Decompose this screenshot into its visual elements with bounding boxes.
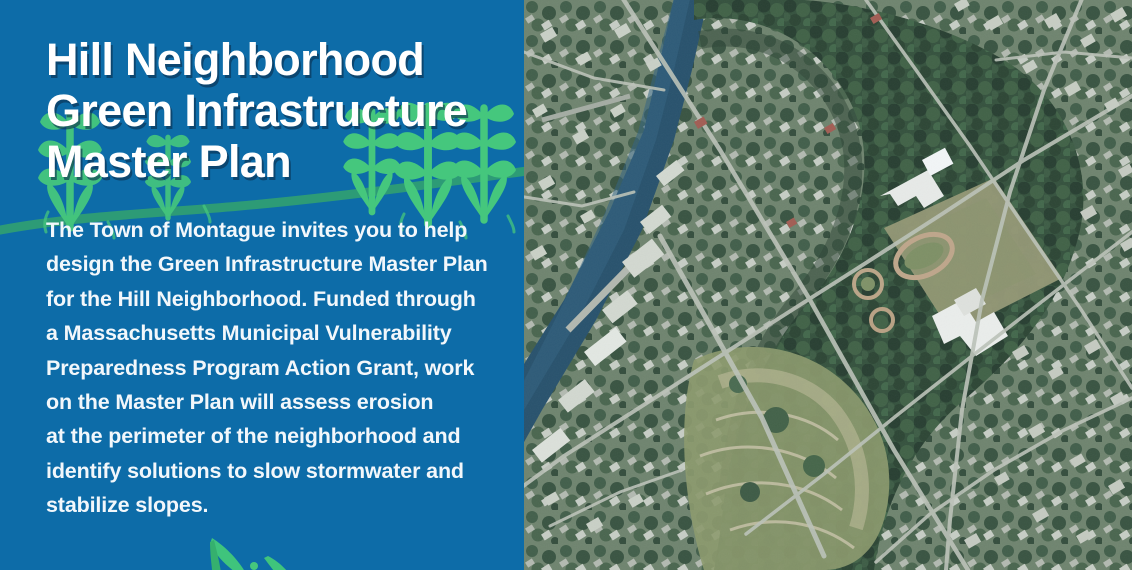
description-line-9: stabilize slopes. — [46, 488, 498, 522]
leaf-sprout-icon-1 — [210, 538, 250, 570]
description-line-4: a Massachusetts Municipal Vulnerability — [46, 316, 498, 350]
description-line-2: design the Green Infrastructure Master P… — [46, 247, 498, 281]
description-line-1: The Town of Montague invites you to help — [46, 213, 498, 247]
page-title: Hill Neighborhood Green Infrastructure M… — [46, 34, 498, 187]
aerial-map-photo — [524, 0, 1132, 570]
leaf-sprout-icon-3 — [264, 556, 298, 570]
page-title-line-2: Green Infrastructure — [46, 85, 498, 136]
description-line-6: on the Master Plan will assess erosion — [46, 385, 498, 419]
info-panel: Hill Neighborhood Green Infrastructure M… — [0, 0, 524, 570]
description-line-7: at the perimeter of the neighborhood and — [46, 419, 498, 453]
leaf-sprout-icon-2 — [210, 540, 222, 570]
panel-content: Hill Neighborhood Green Infrastructure M… — [0, 0, 524, 523]
page-title-line-3: Master Plan — [46, 136, 498, 187]
description-paragraph: The Town of Montague invites you to help… — [46, 213, 498, 523]
description-line-3: for the Hill Neighborhood. Funded throug… — [46, 282, 498, 316]
page-title-line-1: Hill Neighborhood — [46, 34, 498, 85]
green-infrastructure-banner: Hill Neighborhood Green Infrastructure M… — [0, 0, 1132, 570]
leaf-dot — [250, 562, 258, 570]
description-line-8: identify solutions to slow stormwater an… — [46, 454, 498, 488]
description-line-5: Preparedness Program Action Grant, work — [46, 351, 498, 385]
